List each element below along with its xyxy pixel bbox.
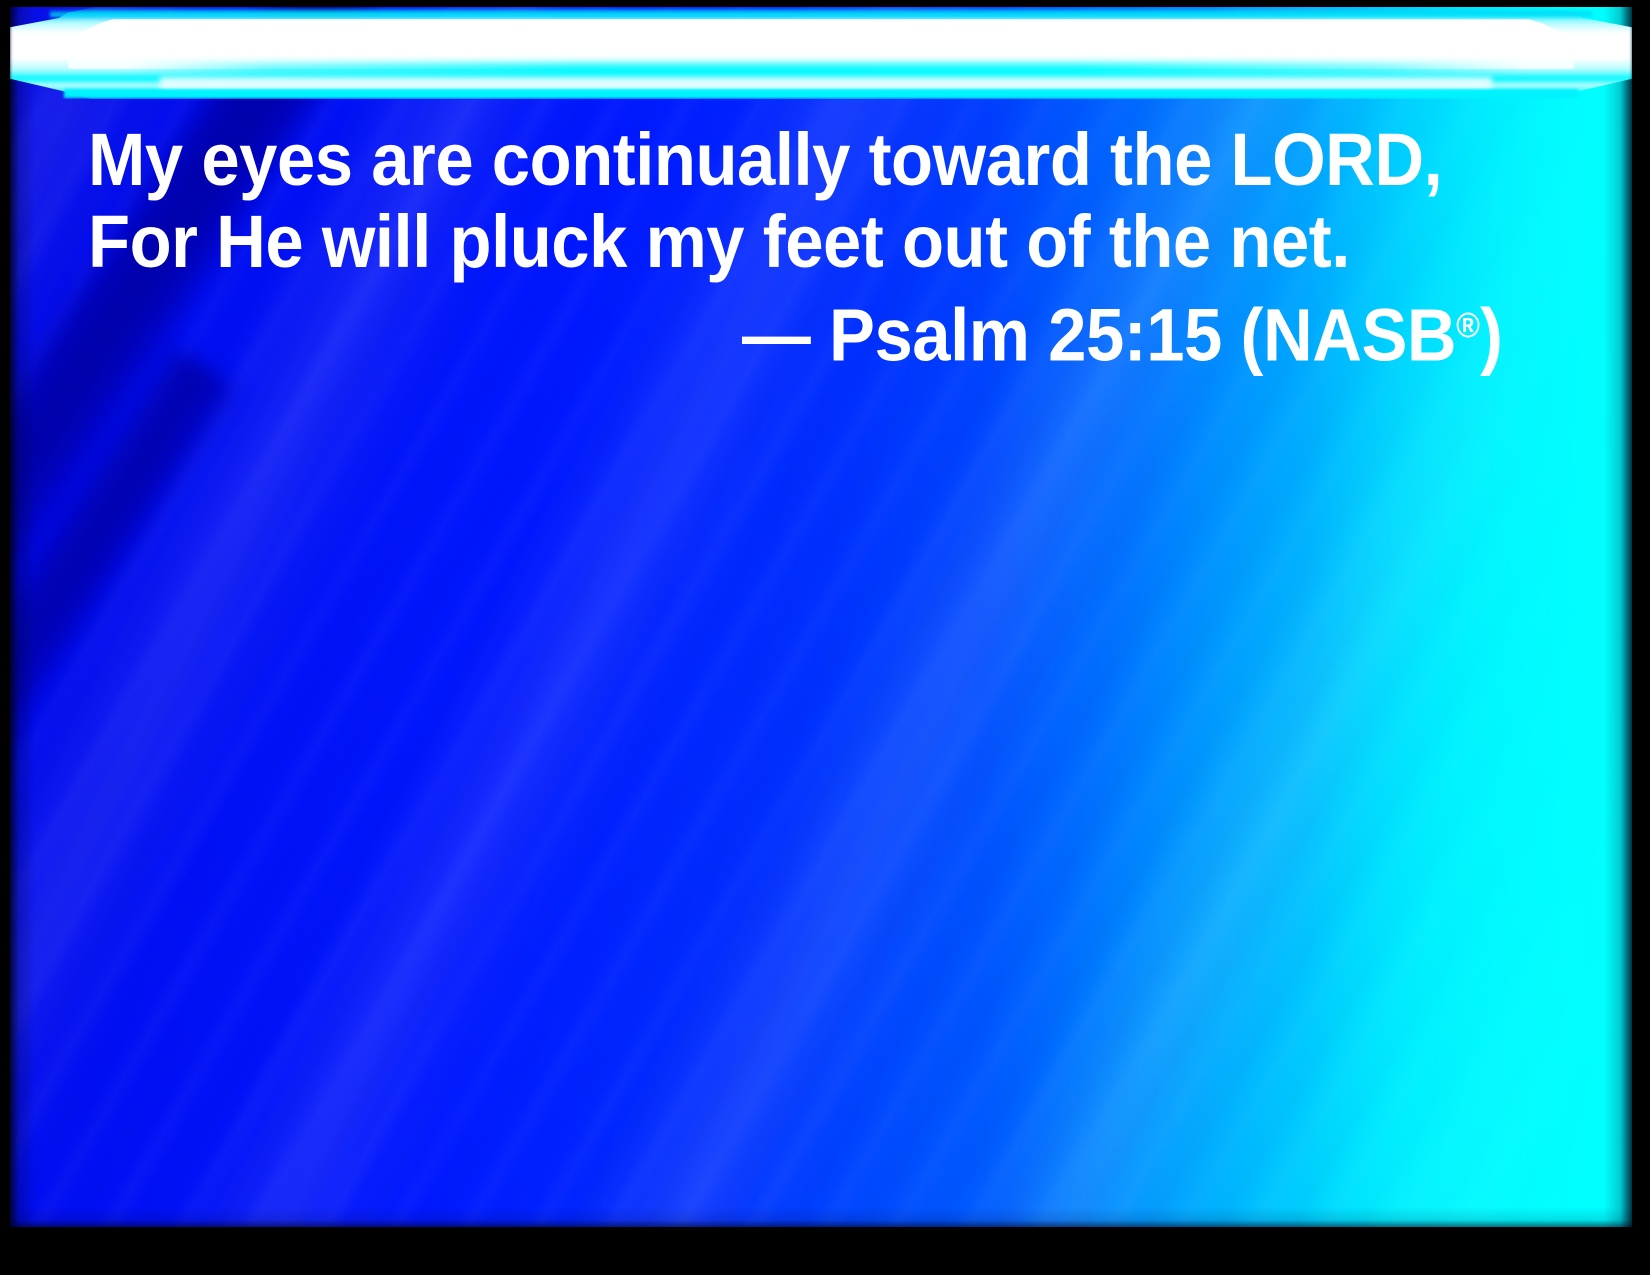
registered-trademark-icon: ® <box>1456 307 1480 345</box>
verse-slide: My eyes are continually toward the LORD,… <box>0 0 1650 1275</box>
attribution-open-paren: ( <box>1241 294 1263 377</box>
attribution-close-paren: ) <box>1480 294 1502 377</box>
attribution-reference: Psalm 25:15 <box>829 294 1222 377</box>
verse-line-2: For He will pluck my feet out of the net… <box>88 201 1409 283</box>
verse-text-block: My eyes are continually toward the LORD,… <box>88 119 1508 379</box>
banner-top-cyan-line <box>50 11 1592 17</box>
top-glow-banner <box>10 7 1632 99</box>
banner-bottom-cyan-line <box>64 89 1578 98</box>
attribution-dash: — <box>742 294 810 377</box>
verse-line-1: My eyes are continually toward the LORD, <box>88 119 1409 201</box>
verse-attribution: — Psalm 25:15 (NASB®) <box>187 283 1508 379</box>
attribution-translation: NASB <box>1263 294 1456 377</box>
banner-white-core <box>68 19 1574 69</box>
slide-canvas: My eyes are continually toward the LORD,… <box>10 7 1632 1227</box>
